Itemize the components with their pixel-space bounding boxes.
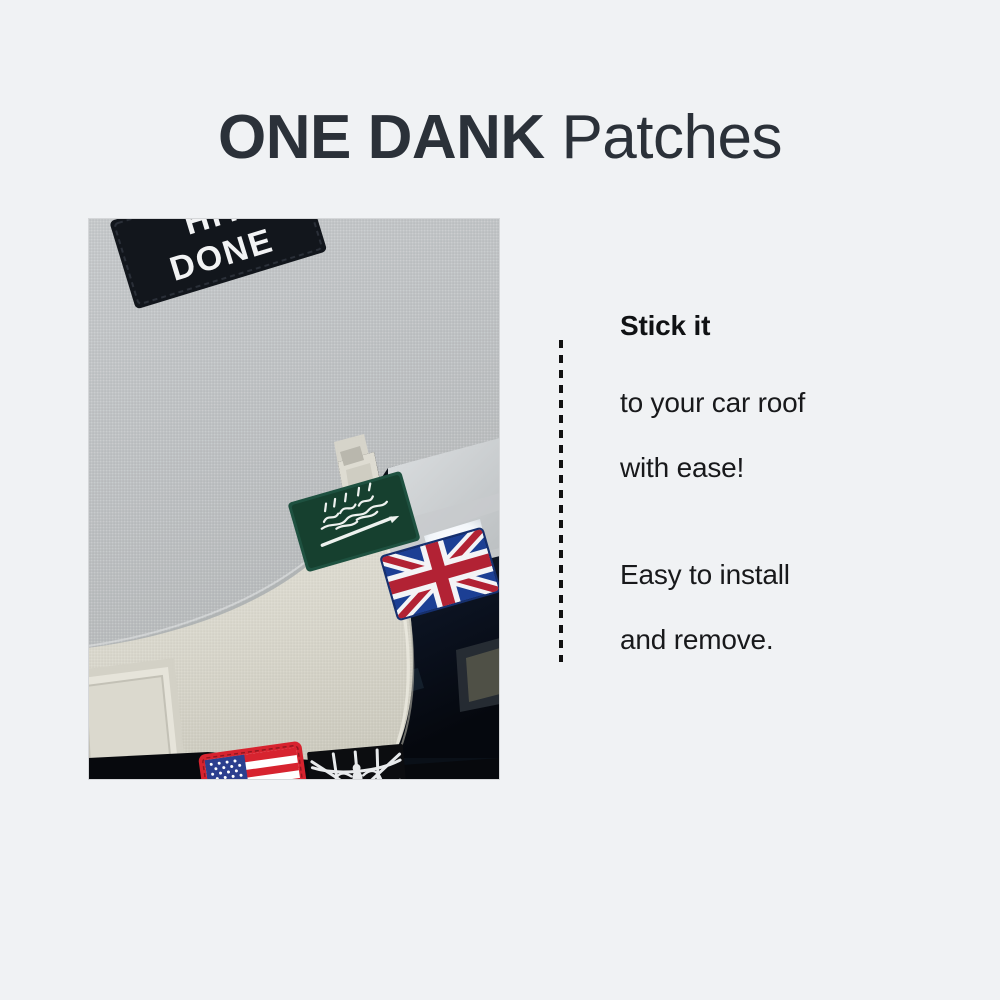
page-title-regular: Patches (545, 103, 782, 172)
product-graphic: ONE DANK Patches (0, 0, 1000, 1000)
feature-heading: Stick it (620, 308, 950, 344)
product-photo-illustration: HIT DONE (88, 218, 500, 780)
product-photo: HIT DONE (88, 218, 500, 780)
page-title-bold: ONE DANK (218, 103, 545, 172)
copy-spacer (620, 500, 950, 542)
feature-line-1: to your car roof (620, 370, 950, 435)
page-title: ONE DANK Patches (0, 100, 1000, 176)
feature-copy: Stick it to your car roof with ease! Eas… (620, 308, 950, 672)
feature-line-4: and remove. (620, 607, 950, 672)
dashed-divider (559, 340, 563, 662)
feature-line-2: with ease! (620, 435, 950, 500)
feature-line-3: Easy to install (620, 542, 950, 607)
